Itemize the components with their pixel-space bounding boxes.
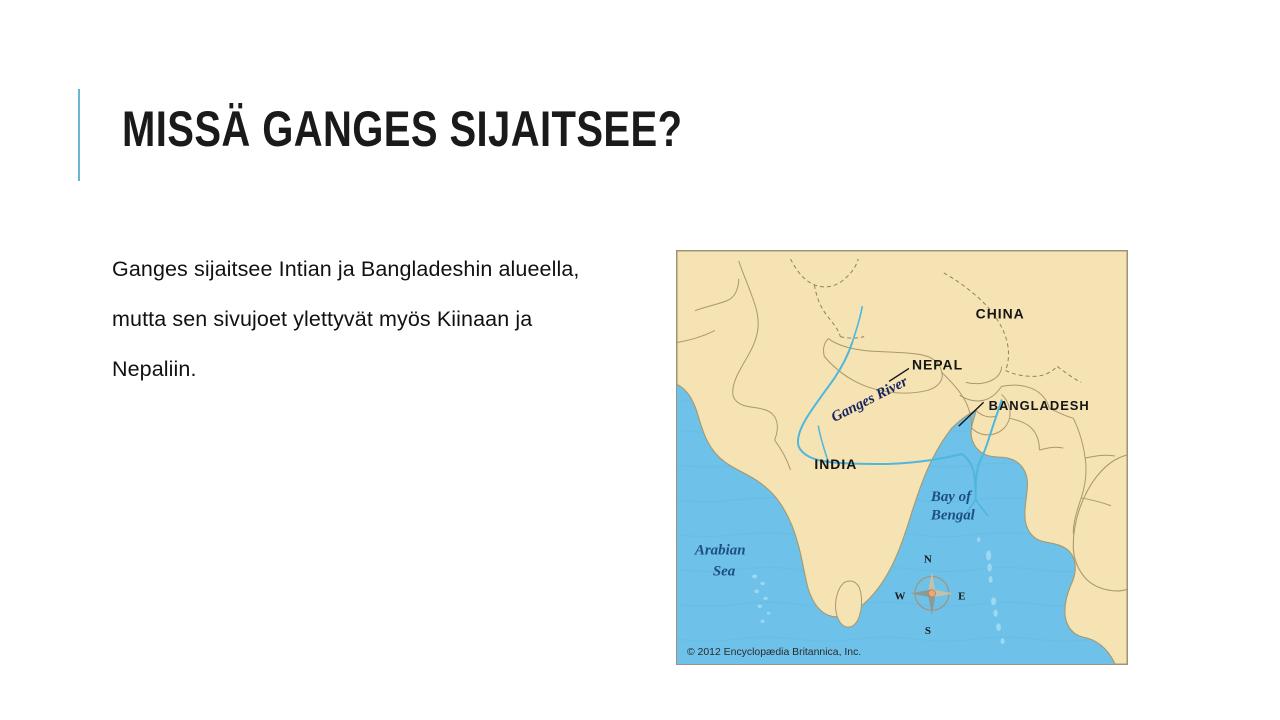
compass-label-east: E — [958, 590, 965, 602]
ganges-region-map: CHINA NEPAL BANGLADESH INDIA Bay of Beng… — [677, 251, 1127, 664]
island-sri-lanka — [836, 581, 862, 627]
page-title: Missä Ganges sijaitsee? — [122, 98, 842, 168]
map-label-arabian-sea-line2: Sea — [713, 563, 736, 579]
presentation-slide: Missä Ganges sijaitsee? Ganges sijaitsee… — [0, 0, 1280, 720]
map-label-arabian-sea-line1: Arabian — [694, 543, 746, 559]
map-label-bay-of-bengal-line1: Bay of — [930, 489, 973, 505]
compass-label-north: N — [924, 553, 932, 565]
map-label-india: INDIA — [814, 456, 857, 472]
map-credit-text: © 2012 Encyclopædia Britannica, Inc. — [687, 647, 861, 658]
compass-label-south: S — [925, 625, 931, 637]
map-label-bangladesh: BANGLADESH — [989, 398, 1090, 413]
title-accent-bar — [78, 89, 80, 181]
compass-label-west: W — [895, 590, 906, 602]
map-label-china: CHINA — [976, 306, 1025, 322]
map-figure: CHINA NEPAL BANGLADESH INDIA Bay of Beng… — [676, 250, 1128, 665]
map-label-nepal: NEPAL — [912, 356, 963, 372]
map-label-bay-of-bengal-line2: Bengal — [930, 508, 976, 524]
body-paragraph: Ganges sijaitsee Intian ja Bangladeshin … — [112, 244, 612, 394]
